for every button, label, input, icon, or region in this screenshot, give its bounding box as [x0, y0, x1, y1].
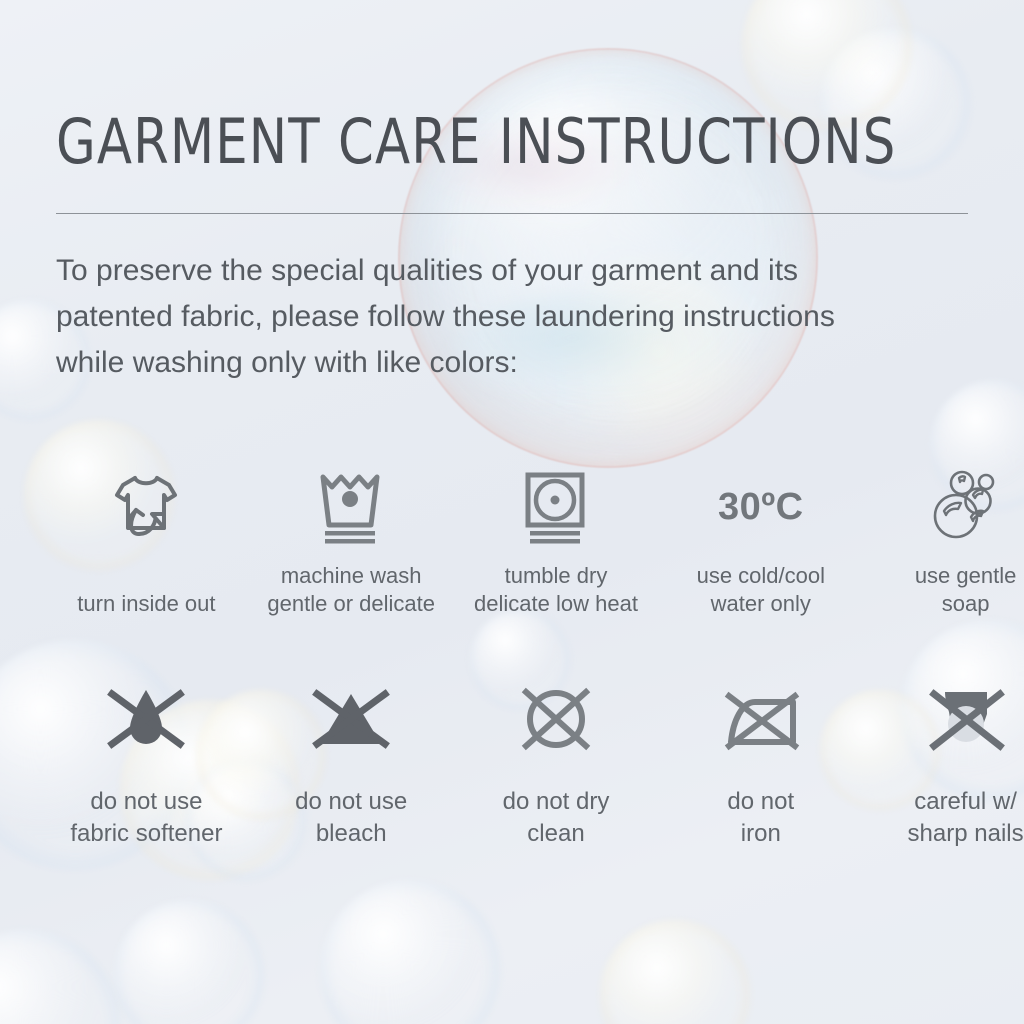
page-title: GARMENT CARE INSTRUCTIONS — [56, 106, 895, 178]
care-item-label: do not use fabric softener — [70, 786, 222, 850]
tshirt-turn-inside-out-icon — [107, 466, 185, 548]
care-item-careful-sharp-nails: careful w/ sharp nails — [863, 672, 1024, 850]
care-item-machine-wash: machine wash gentle or delicate — [249, 466, 454, 618]
no-dry-clean-icon — [510, 672, 602, 764]
poster-content: GARMENT CARE INSTRUCTIONS To preserve th… — [0, 0, 1024, 1024]
title-divider — [56, 213, 968, 214]
intro-line-1: To preserve the special qualities of you… — [56, 248, 936, 294]
care-row-recommended: turn inside out machine wash gentle or d… — [0, 466, 1024, 618]
care-item-label: use cold/cool water only — [697, 562, 825, 618]
care-item-turn-inside-out: turn inside out — [44, 466, 249, 618]
care-item-label: careful w/ sharp nails — [908, 786, 1024, 850]
wash-tub-delicate-icon — [313, 466, 389, 548]
intro-line-2: patented fabric, please follow these lau… — [56, 294, 936, 340]
care-item-tumble-dry: tumble dry delicate low heat — [454, 466, 659, 618]
temperature-value: 30ºC — [718, 466, 804, 548]
care-item-label: do not dry clean — [503, 786, 610, 850]
no-iron-icon — [715, 672, 807, 764]
care-item-label: do not iron — [727, 786, 794, 850]
temperature-30c-icon: 30ºC — [718, 466, 804, 548]
care-item-no-fabric-softener: do not use fabric softener — [44, 672, 249, 850]
no-bleach-icon — [305, 672, 397, 764]
care-item-label: machine wash gentle or delicate — [267, 562, 435, 618]
garment-care-poster: GARMENT CARE INSTRUCTIONS To preserve th… — [0, 0, 1024, 1024]
intro-paragraph: To preserve the special qualities of you… — [56, 248, 936, 386]
care-item-label: use gentle soap — [915, 562, 1017, 618]
care-item-no-dry-clean: do not dry clean — [454, 672, 659, 850]
intro-line-3: while washing only with like colors: — [56, 340, 936, 386]
care-item-gentle-soap: use gentle soap — [863, 466, 1024, 618]
care-row-prohibited: do not use fabric softener do not use bl… — [0, 672, 1024, 850]
soap-bubbles-icon — [925, 466, 1007, 548]
care-item-no-iron: do not iron — [658, 672, 863, 850]
tumble-dry-low-heat-icon — [518, 466, 594, 548]
care-item-water-temperature: 30ºC use cold/cool water only — [658, 466, 863, 618]
care-item-label: do not use bleach — [295, 786, 407, 850]
no-fabric-softener-icon — [100, 672, 192, 764]
care-item-label: tumble dry delicate low heat — [474, 562, 638, 618]
careful-sharp-nails-icon — [920, 672, 1012, 764]
care-item-no-bleach: do not use bleach — [249, 672, 454, 850]
care-item-label: turn inside out — [77, 590, 215, 618]
